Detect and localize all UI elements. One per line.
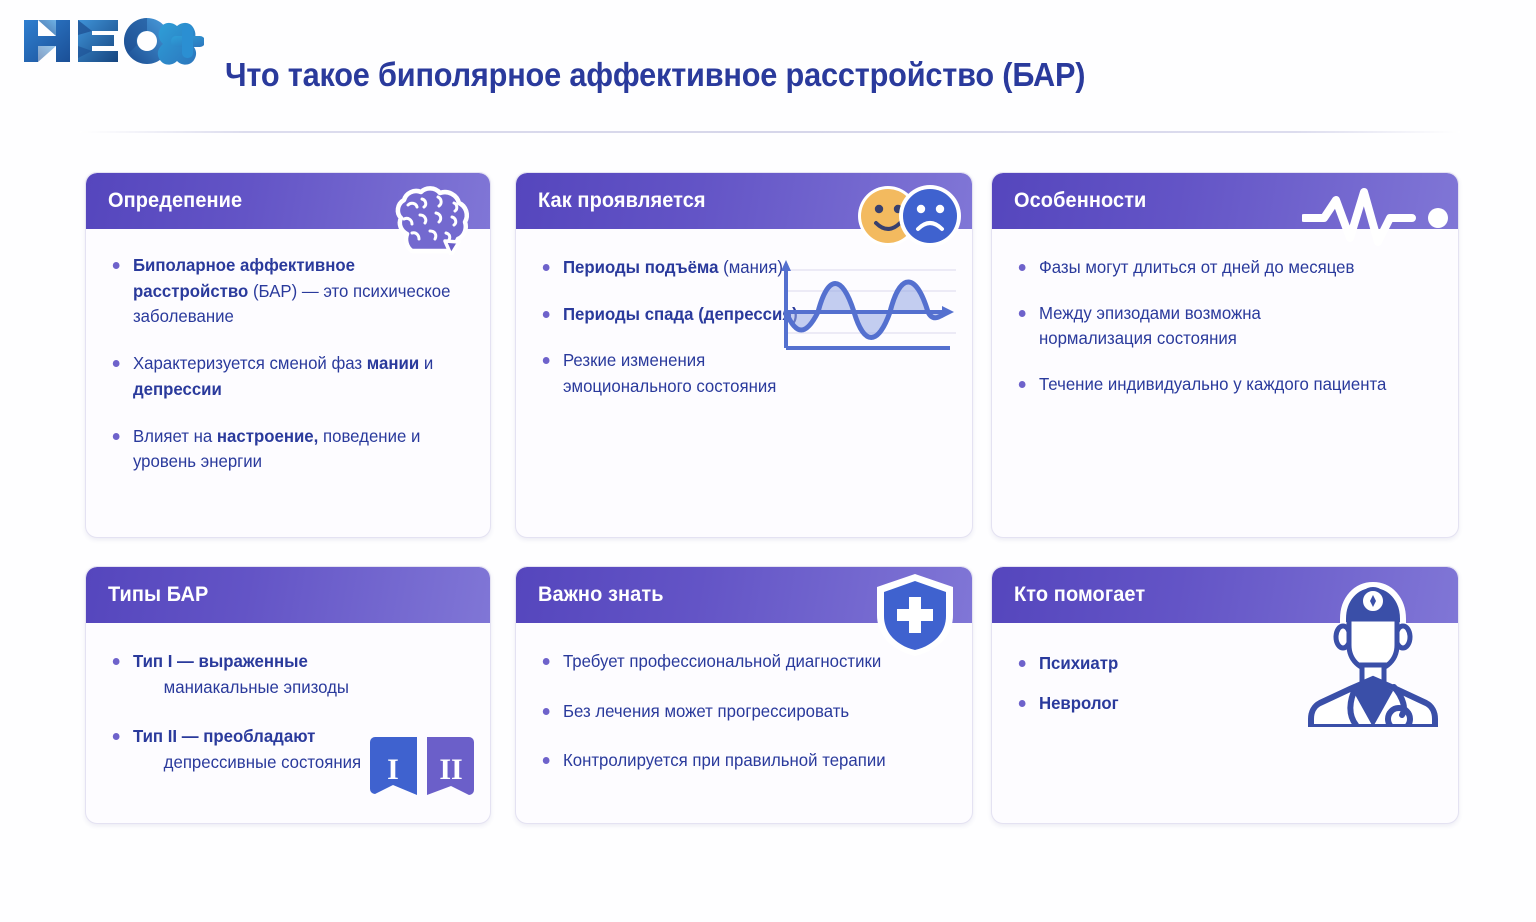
item-text: Фазы могут длиться от дней до месяцев	[1039, 257, 1354, 277]
card-definition: Опредепение	[85, 172, 491, 538]
item-lead: настроение,	[217, 426, 318, 446]
badge-two: II	[439, 753, 462, 786]
item-lead: мании	[367, 353, 419, 373]
item-lead: Тип I — выраженные	[133, 651, 308, 671]
card-important: Важно знать Требует профессиональной диа…	[515, 566, 973, 824]
item-text: Без лечения может прогрессировать	[563, 701, 849, 721]
list-item: Тип I — выраженные маниакальные эпизоды	[108, 649, 456, 700]
item-text: Требует профессиональной диагностики	[563, 651, 881, 671]
list-item: Невролог	[1014, 691, 1421, 717]
item-sub: маниакальные эпизоды	[164, 675, 456, 701]
card-features: Особенности Фазы могут длиться от дней д…	[991, 172, 1459, 538]
item-text: Психиатр	[1039, 653, 1118, 673]
item-text: Невролог	[1039, 693, 1119, 713]
infographic-page: Что такое биполярное аффективное расстро…	[0, 0, 1536, 922]
list-item: Резкие изменения эмоционального состояни…	[538, 348, 778, 399]
item-lead: Периоды подъёма	[563, 257, 719, 277]
card-types: Типы БАР Тип I — выраженные маниакальные…	[85, 566, 491, 824]
card-body: Биполарное аффективное расстройство (БАР…	[86, 229, 490, 491]
item-pre: Характеризуется сменой фаз	[133, 353, 367, 373]
list-item: Фазы могут длиться от дней до месяцев	[1014, 255, 1421, 281]
list-item: Психиатр	[1014, 651, 1421, 677]
card-body: Тип I — выраженные маниакальные эпизоды …	[86, 623, 490, 816]
item-pre: Влияет на	[133, 426, 217, 446]
card-header: Как проявляется	[516, 173, 972, 229]
list-item: Биполарное аффективное расстройство (БАР…	[108, 253, 456, 330]
item-text: Контролируется при правильной терапии	[563, 750, 886, 770]
list-item: Между эпизодами возможна нормализация со…	[1014, 301, 1312, 352]
card-title: Важно знать	[538, 583, 664, 607]
item-lead: Тип II — преобладают	[133, 726, 315, 746]
page-title: Что такое биполярное аффективное расстро…	[225, 56, 1085, 94]
badge-one: I	[387, 753, 399, 786]
card-body: Психиатр Невролог	[992, 623, 1458, 746]
card-header: Особенности	[992, 173, 1458, 229]
header-divider	[80, 131, 1460, 133]
card-who-helps: Кто помогает	[991, 566, 1459, 824]
card-body: Требует профессиональной диагностики Без…	[516, 623, 972, 814]
card-title: Особенности	[1014, 189, 1146, 213]
mood-wave-chart	[770, 258, 960, 358]
card-header: Кто помогает	[992, 567, 1458, 623]
card-title: Опредепение	[108, 189, 242, 213]
card-body: Периоды подъёма (мания) Периоды спада (д…	[516, 229, 972, 416]
item-text: Резкие изменения эмоционального состояни…	[563, 350, 776, 396]
item-mid: и	[419, 353, 433, 373]
item-text: Между эпизодами возможна нормализация со…	[1039, 303, 1261, 349]
item-lead: Периоды спада (депрессия)	[563, 304, 798, 324]
card-header: Опредепение	[86, 173, 490, 229]
list-item: Контролируется при правильной терапии	[538, 748, 935, 774]
list-item: Характеризуется сменой фаз мании и депре…	[108, 351, 456, 402]
bullet-list: Биполарное аффективное расстройство (БАР…	[108, 253, 470, 475]
list-item: Течение индивидуально у каждого пациента	[1014, 372, 1421, 398]
item-text: Течение индивидуально у каждого пациента	[1039, 374, 1386, 394]
card-symptoms: Как проявляется Период	[515, 172, 973, 538]
list-item: Требует профессиональной диагностики	[538, 649, 935, 675]
card-header: Типы БАР	[86, 567, 490, 623]
card-title: Кто помогает	[1014, 583, 1145, 607]
card-title: Как проявляется	[538, 189, 706, 213]
card-title: Типы БАР	[108, 583, 208, 607]
neo-plus-logo	[18, 14, 204, 68]
card-body: Фазы могут длиться от дней до месяцев Ме…	[992, 229, 1458, 434]
bullet-list: Требует профессиональной диагностики Без…	[538, 649, 952, 774]
list-item: Без лечения может прогрессировать	[538, 699, 935, 725]
bullet-list: Фазы могут длиться от дней до месяцев Ме…	[1014, 255, 1438, 398]
card-header: Важно знать	[516, 567, 972, 623]
type-badges-icon: I II	[366, 736, 478, 802]
item-lead-2: депрессии	[133, 379, 222, 399]
list-item: Влияет на настроение, поведение и уровен…	[108, 424, 456, 475]
bullet-list: Психиатр Невролог	[1014, 651, 1438, 716]
